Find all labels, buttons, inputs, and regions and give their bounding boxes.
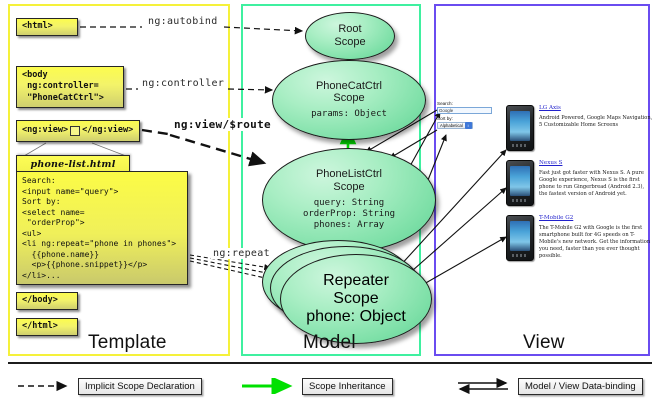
label-ng-view-route: ng:view/$route <box>172 118 273 131</box>
sort-select[interactable]: Alphabetical ↕ <box>437 122 473 130</box>
legend-divider <box>8 362 652 364</box>
scope-phonelistctrl: PhoneListCtrl Scope query: String orderP… <box>262 148 436 252</box>
scope-repeater-title-line2: Scope <box>333 290 378 307</box>
phone-snippet: Fast just got faster with Nexus S. A pur… <box>539 170 653 198</box>
legend: Implicit Scope Declaration Scope Inherit… <box>8 374 652 398</box>
phone-name-link[interactable]: T-Mobile G2 <box>539 215 653 222</box>
phone-keyboard <box>512 144 528 147</box>
scope-phonecatctrl-title-line2: Scope <box>333 92 364 104</box>
phone-name-link[interactable]: Nexus S <box>539 160 653 167</box>
legend-item-inheritance: Scope Inheritance <box>240 374 393 398</box>
label-ng-autobind: ng:autobind <box>146 16 220 27</box>
ngview-open-tag: <ng:view> <box>22 125 68 136</box>
phone-text-block: Nexus S Fast just got faster with Nexus … <box>539 160 653 198</box>
scope-root: Root Scope <box>305 12 395 60</box>
dashed-arrow-icon <box>16 378 72 394</box>
scope-phonecatctrl: PhoneCatCtrl Scope params: Object <box>272 60 426 140</box>
phone-thumbnail-image <box>506 215 534 261</box>
phone-keyboard <box>512 254 528 257</box>
code-tag-html-open: <html> <box>16 18 78 36</box>
scope-root-title-line2: Scope <box>334 36 365 48</box>
template-note-phone-list: phone-list.html Search: <input name="que… <box>16 155 188 287</box>
scope-phonelistctrl-props: query: String orderProp: String phones: … <box>303 198 395 232</box>
column-label-model: Model <box>303 332 356 354</box>
scope-repeater-front: Repeater Scope phone: Object <box>280 254 432 344</box>
sort-label: Sort by: <box>437 116 495 122</box>
legend-item-implicit: Implicit Scope Declaration <box>16 374 202 398</box>
scope-phonelistctrl-title-line2: Scope <box>333 181 364 193</box>
view-search-form: Search: Google Sort by: Alphabetical ↕ <box>437 101 495 129</box>
scope-phonecatctrl-props: params: Object <box>311 109 387 120</box>
solid-green-arrow-icon <box>240 378 296 394</box>
phone-screen <box>510 111 530 141</box>
legend-item-databinding: Model / View Data-binding <box>456 374 643 398</box>
scope-phonecatctrl-title: PhoneCatCtrl Scope <box>316 80 382 105</box>
phone-screen <box>510 166 530 196</box>
phone-snippet: Android Powered, Google Maps Navigation,… <box>539 115 653 129</box>
code-tag-body-close: </body> <box>16 292 78 310</box>
sort-select-value: Alphabetical <box>438 123 464 128</box>
phone-keyboard <box>512 199 528 202</box>
scope-phonelistctrl-title-line1: PhoneListCtrl <box>316 168 382 180</box>
legend-label-databinding: Model / View Data-binding <box>518 378 643 395</box>
search-input[interactable]: Google <box>437 107 492 114</box>
label-ng-controller: ng:controller <box>140 78 226 89</box>
scope-repeater-title: Repeater Scope <box>323 272 389 308</box>
search-label: Search: <box>437 101 495 107</box>
scope-repeater-props: phone: Object <box>306 308 406 326</box>
scope-root-title: Root Scope <box>334 23 365 48</box>
code-tag-ngview: <ng:view></ng:view> <box>16 120 140 142</box>
ngview-close-tag: </ng:view> <box>82 125 133 136</box>
code-tag-body-open: <body ng:controller= "PhoneCatCtrl"> <box>16 66 124 108</box>
double-arrow-icon <box>456 378 512 394</box>
scope-phonecatctrl-title-line1: PhoneCatCtrl <box>316 80 382 92</box>
phone-text-block: LG Axis Android Powered, Google Maps Nav… <box>539 105 653 129</box>
legend-label-inheritance: Scope Inheritance <box>302 378 393 395</box>
phone-thumbnail-image <box>506 105 534 151</box>
legend-label-implicit: Implicit Scope Declaration <box>78 378 202 395</box>
phone-thumbnail-image <box>506 160 534 206</box>
chevron-updown-icon: ↕ <box>465 122 472 129</box>
column-label-view: View <box>523 332 565 354</box>
phone-text-block: T-Mobile G2 The T-Mobile G2 with Google … <box>539 215 653 260</box>
diagram-root: <html> <body ng:controller= "PhoneCatCtr… <box>0 0 660 405</box>
ngview-placeholder-icon <box>70 126 80 136</box>
note-code-body: Search: <input name="query"> Sort by: <s… <box>16 171 188 285</box>
scope-phonelistctrl-title: PhoneListCtrl Scope <box>316 168 382 193</box>
column-label-template: Template <box>88 332 167 354</box>
scope-root-title-line1: Root <box>338 23 361 35</box>
code-tag-html-close: </html> <box>16 318 78 336</box>
phone-screen <box>510 221 530 251</box>
scope-repeater-title-line1: Repeater <box>323 272 389 289</box>
phone-snippet: The T-Mobile G2 with Google is the first… <box>539 225 653 259</box>
phone-name-link[interactable]: LG Axis <box>539 105 653 112</box>
